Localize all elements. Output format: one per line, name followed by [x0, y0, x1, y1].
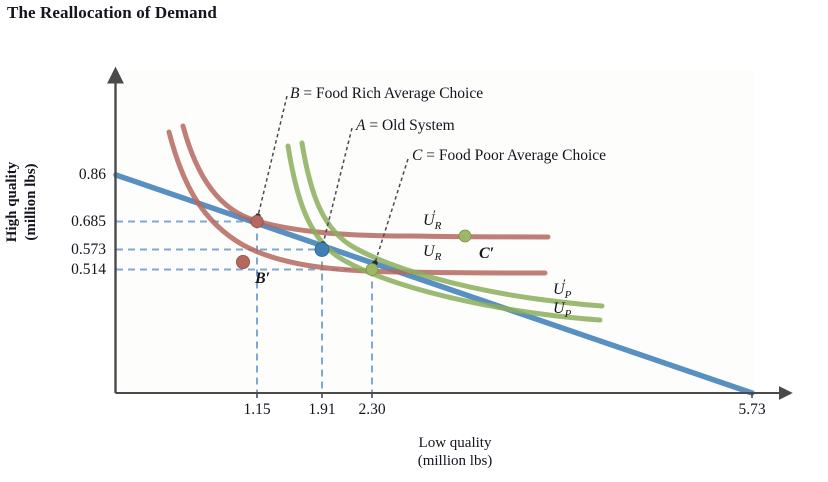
curve-label-up: UP: [553, 300, 571, 321]
callout-b-text: = Food Rich Average Choice: [299, 85, 483, 102]
curve-label-up-prime-mark: ′: [562, 276, 565, 291]
curve-label-up-sub: P: [565, 308, 572, 320]
point-b[interactable]: [251, 215, 263, 227]
callout-a-text: = Old System: [365, 117, 454, 134]
chart-canvas: [0, 0, 828, 482]
curve-label-ur-base: U: [423, 243, 435, 260]
y-axis-title-units: (million lbs): [23, 163, 39, 240]
callout-c-symbol: C: [412, 147, 422, 164]
point-b-prime[interactable]: [236, 255, 249, 268]
point-a[interactable]: [315, 243, 329, 257]
point-label-c-prime: C′: [479, 245, 494, 263]
callout-a: A = Old System: [356, 117, 455, 134]
curve-label-up-base: U: [553, 300, 565, 317]
y-axis-title: High quality (million lbs): [14, 122, 54, 282]
y-axis-title-main: High quality: [4, 162, 20, 242]
x-tick-label-0: 1.15: [227, 401, 287, 418]
x-axis-title-units: (million lbs): [370, 453, 540, 470]
curve-label-ur-sub: R: [435, 251, 442, 263]
callout-c-text: = Food Poor Average Choice: [422, 147, 606, 164]
curve-label-up-prime: UP′: [553, 281, 574, 302]
callout-c: C = Food Poor Average Choice: [412, 147, 606, 164]
callout-b: B = Food Rich Average Choice: [290, 85, 483, 102]
figure-root: The Reallocation of Demand: [0, 0, 828, 482]
x-tick-label-2: 2.30: [342, 401, 402, 418]
x-axis-title-main: Low quality: [370, 435, 540, 452]
curve-label-ur: UR: [423, 243, 441, 264]
x-tick-label-3: 5.73: [722, 401, 782, 418]
point-label-b-prime: B′: [255, 270, 270, 288]
curve-label-ur-prime: UR′: [423, 212, 444, 233]
point-c[interactable]: [366, 264, 378, 276]
curve-label-ur-prime-sub: R: [435, 220, 442, 232]
point-c-prime[interactable]: [459, 230, 471, 242]
curve-label-ur-prime-mark: ′: [432, 207, 435, 222]
